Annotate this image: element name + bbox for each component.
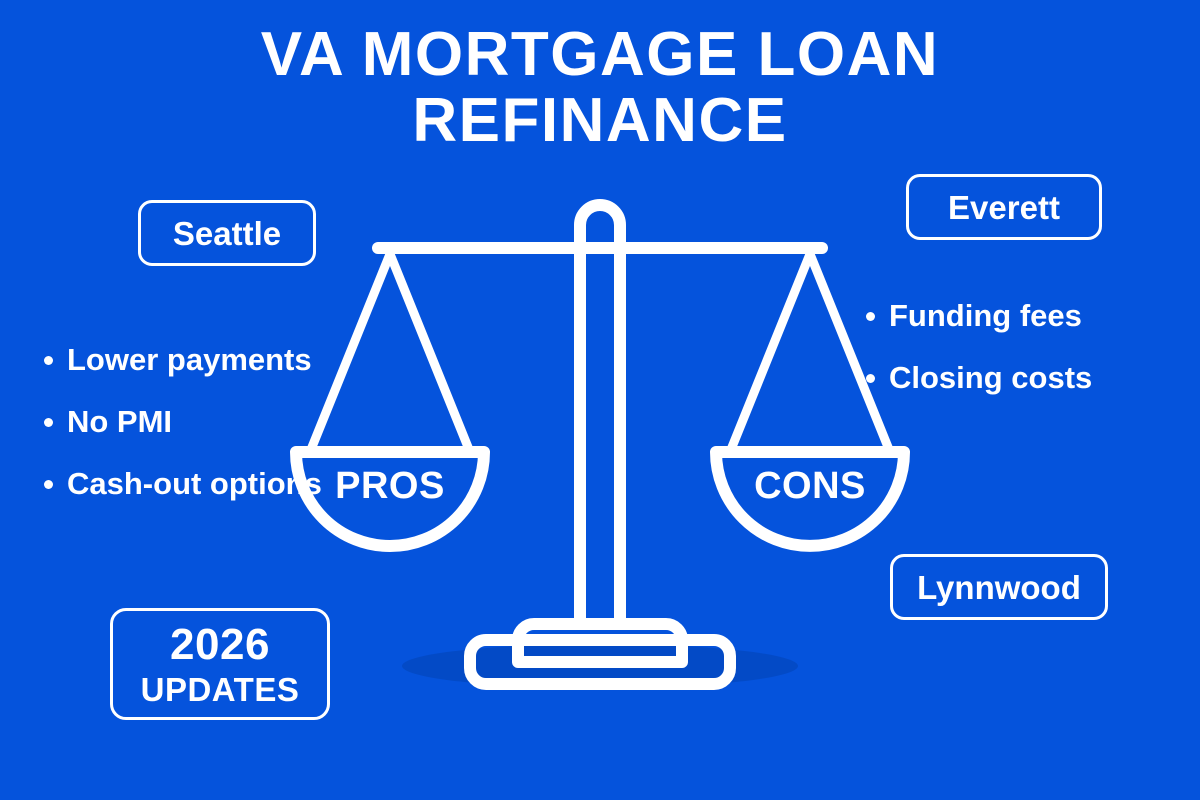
infographic-canvas: VA MORTGAGE LOAN REFINANCE PROS xyxy=(0,0,1200,800)
location-pill-seattle[interactable]: Seattle xyxy=(138,200,316,266)
location-pill-everett[interactable]: Everett xyxy=(906,174,1102,240)
title-line-1: VA MORTGAGE LOAN xyxy=(0,22,1200,88)
scale-post xyxy=(580,205,620,624)
pros-list-item: Lower payments xyxy=(44,340,374,380)
bullet-dot-icon xyxy=(44,480,53,489)
pros-list-item: Cash-out options xyxy=(44,464,374,504)
title-line-2: REFINANCE xyxy=(0,88,1200,154)
bullet-dot-icon xyxy=(866,312,875,321)
cons-pan-label: CONS xyxy=(754,465,866,507)
pros-list-item-label: No PMI xyxy=(67,402,172,442)
updates-badge-subtitle: UPDATES xyxy=(141,673,300,706)
bullet-dot-icon xyxy=(44,356,53,365)
pros-list-item: No PMI xyxy=(44,402,374,442)
location-pill-lynnwood[interactable]: Lynnwood xyxy=(890,554,1108,620)
updates-badge-year: 2026 xyxy=(170,623,270,667)
location-pill-seattle-label: Seattle xyxy=(173,217,281,250)
updates-badge: 2026 UPDATES xyxy=(110,608,330,720)
location-pill-lynnwood-label: Lynnwood xyxy=(917,571,1081,604)
location-pill-everett-label: Everett xyxy=(948,191,1060,224)
page-title: VA MORTGAGE LOAN REFINANCE xyxy=(0,22,1200,154)
pros-bullet-list: Lower payments No PMI Cash-out options xyxy=(44,340,374,526)
cons-list-item-label: Funding fees xyxy=(889,296,1082,336)
cons-list-item: Closing costs xyxy=(866,358,1156,398)
pros-list-item-label: Cash-out options xyxy=(67,464,322,504)
cons-bullet-list: Funding fees Closing costs xyxy=(866,296,1156,420)
bullet-dot-icon xyxy=(44,418,53,427)
pros-list-item-label: Lower payments xyxy=(67,340,312,380)
cons-list-item: Funding fees xyxy=(866,296,1156,336)
cons-list-item-label: Closing costs xyxy=(889,358,1092,398)
bullet-dot-icon xyxy=(866,374,875,383)
